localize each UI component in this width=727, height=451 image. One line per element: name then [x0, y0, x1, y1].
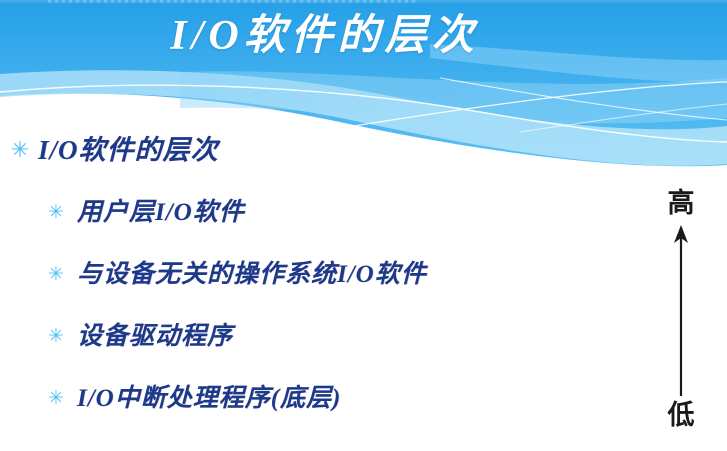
- outline-item-device-driver[interactable]: ✳ 设备驱动程序: [0, 316, 640, 378]
- bullet-snowflake-icon: ✳: [45, 327, 67, 346]
- bullet-snowflake-icon: ✳: [45, 203, 67, 222]
- bullet-snowflake-icon: ✳: [45, 265, 67, 284]
- outline-item-label: I/O中断处理程序(底层): [77, 378, 341, 414]
- outline-item-label: 设备驱动程序: [77, 316, 233, 352]
- cropped-window-chrome-sliver: [48, 0, 418, 3]
- level-scale: 高 低: [650, 188, 712, 443]
- slide-canvas: I/O软件的层次 ✳ I/O软件的层次 ✳ 用户层I/O软件 ✳ 与设备无关的操…: [0, 0, 727, 451]
- outline-item-user-layer[interactable]: ✳ 用户层I/O软件: [0, 192, 640, 254]
- outline-spacer: [0, 170, 640, 192]
- outline-item-label: 用户层I/O软件: [77, 192, 245, 228]
- outline-item-label: I/O软件的层次: [38, 128, 219, 167]
- outline-item-device-independent[interactable]: ✳ 与设备无关的操作系统I/O软件: [0, 254, 640, 316]
- bullet-snowflake-icon: ✳: [45, 389, 67, 408]
- outline-item-interrupt-handler[interactable]: ✳ I/O中断处理程序(底层): [0, 378, 640, 440]
- page-title: I/O软件的层次: [0, 4, 727, 68]
- outline-item-label: 与设备无关的操作系统I/O软件: [77, 254, 427, 290]
- outline-list: ✳ I/O软件的层次 ✳ 用户层I/O软件 ✳ 与设备无关的操作系统I/O软件 …: [0, 128, 640, 440]
- bullet-snowflake-icon: ✳: [8, 139, 32, 161]
- scale-low-label: 低: [650, 400, 712, 430]
- scale-high-label: 高: [650, 188, 712, 218]
- scale-up-arrow-icon: [650, 224, 712, 396]
- outline-item-level1[interactable]: ✳ I/O软件的层次: [0, 128, 640, 170]
